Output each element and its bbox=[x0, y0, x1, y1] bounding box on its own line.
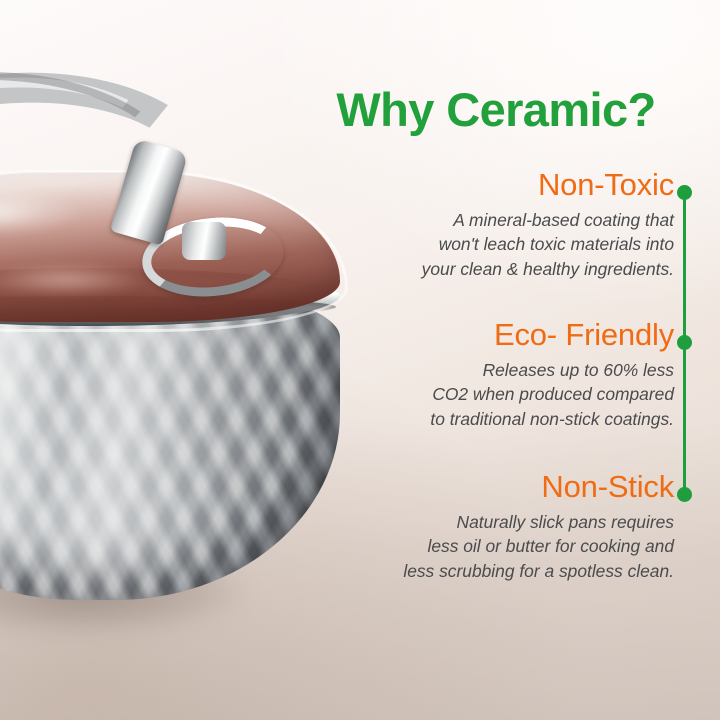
why-ceramic-infographic: Why Ceramic? Non-Toxic A mineral-based c… bbox=[0, 0, 720, 720]
feature-description: Naturally slick pans requires less oil o… bbox=[322, 510, 674, 582]
feature-description: A mineral-based coating that won't leach… bbox=[322, 208, 674, 280]
feature-description-line: less oil or butter for cooking and bbox=[322, 534, 674, 558]
feature-description: Releases up to 60% less CO2 when produce… bbox=[322, 358, 674, 430]
feature-description-line: your clean & healthy ingredients. bbox=[322, 257, 674, 281]
page-title: Why Ceramic? bbox=[300, 82, 692, 137]
feature-eco-friendly: Eco- Friendly Releases up to 60% less CO… bbox=[322, 318, 674, 431]
feature-heading: Non-Stick bbox=[322, 470, 674, 503]
feature-description-line: CO2 when produced compared bbox=[322, 382, 674, 406]
feature-heading: Non-Toxic bbox=[322, 168, 674, 201]
feature-non-toxic: Non-Toxic A mineral-based coating that w… bbox=[322, 168, 674, 281]
feature-heading: Eco- Friendly bbox=[322, 318, 674, 351]
pot-hammered-body bbox=[0, 288, 340, 600]
feature-description-line: A mineral-based coating that bbox=[322, 208, 674, 232]
timeline-dot-non-stick bbox=[677, 487, 692, 502]
ceramic-pot-image bbox=[0, 60, 350, 640]
feature-description-line: Naturally slick pans requires bbox=[322, 510, 674, 534]
content-column: Why Ceramic? Non-Toxic A mineral-based c… bbox=[300, 0, 720, 720]
feature-description-line: to traditional non-stick coatings. bbox=[322, 407, 674, 431]
feature-description-line: Releases up to 60% less bbox=[322, 358, 674, 382]
feature-description-line: won't leach toxic materials into bbox=[322, 232, 674, 256]
timeline-dot-eco-friendly bbox=[677, 335, 692, 350]
feature-description-line: less scrubbing for a spotless clean. bbox=[322, 559, 674, 583]
timeline-dot-non-toxic bbox=[677, 185, 692, 200]
feature-non-stick: Non-Stick Naturally slick pans requires … bbox=[322, 470, 674, 583]
